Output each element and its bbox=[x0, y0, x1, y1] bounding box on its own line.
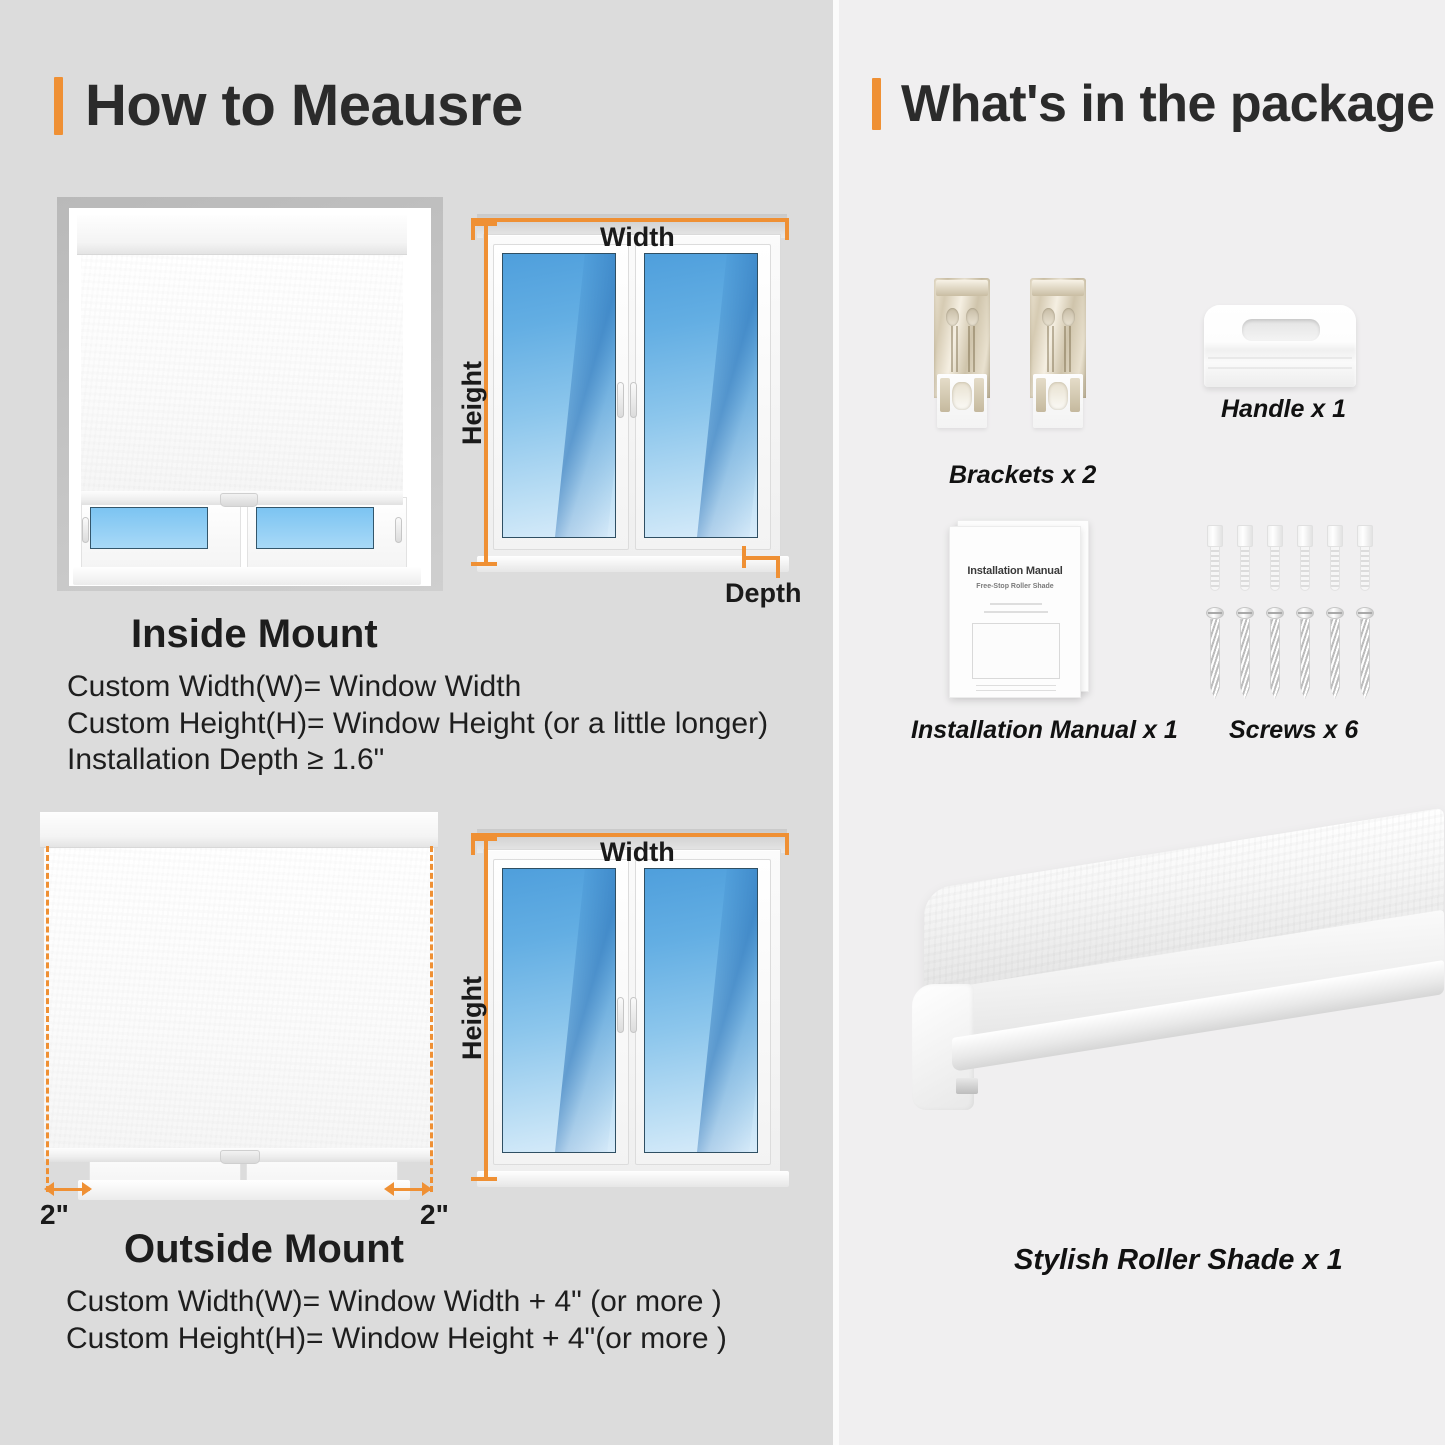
screw-5 bbox=[1326, 607, 1344, 703]
width-tick-right bbox=[785, 218, 789, 240]
wall-anchor-1 bbox=[1207, 525, 1223, 591]
overhang-arrowhead-right-inner bbox=[384, 1182, 394, 1196]
inside-mount-line-2: Custom Height(H)= Window Height (or a li… bbox=[67, 706, 768, 743]
inside-mount-title: Inside Mount bbox=[131, 612, 378, 657]
wall-anchor-2 bbox=[1237, 525, 1253, 591]
height-tick-bottom bbox=[471, 1177, 497, 1181]
overhang-label-left: 2" bbox=[40, 1199, 69, 1231]
wall-anchor-3 bbox=[1267, 525, 1283, 591]
handle-label: Handle x 1 bbox=[1221, 395, 1346, 424]
manual-cover-title: Installation Manual bbox=[950, 565, 1080, 577]
window-handle-right bbox=[630, 997, 637, 1033]
screw-3 bbox=[1266, 607, 1284, 703]
overhang-arrowhead-right bbox=[422, 1182, 432, 1196]
bracket-2 bbox=[1030, 278, 1086, 428]
window-handle-left bbox=[617, 382, 624, 418]
screw-1 bbox=[1206, 607, 1224, 703]
handle-slot bbox=[1242, 319, 1320, 341]
shade-valance bbox=[40, 812, 438, 848]
handle-ridge-1 bbox=[1208, 357, 1352, 359]
width-label: Width bbox=[600, 837, 675, 868]
manual-label: Installation Manual x 1 bbox=[911, 716, 1178, 745]
depth-tick-right bbox=[776, 556, 780, 578]
overhang-label-right: 2" bbox=[420, 1199, 449, 1231]
shade-fabric bbox=[81, 255, 403, 493]
window-glass-left bbox=[502, 253, 616, 538]
window-glass-left bbox=[90, 507, 208, 549]
window-handle-right bbox=[630, 382, 637, 418]
height-tick-bottom bbox=[471, 562, 497, 566]
manual-cover-subtitle: Free-Stop Roller Shade bbox=[950, 583, 1080, 590]
shade-pull-handle bbox=[220, 493, 258, 507]
overhang-arrowhead-left-inner bbox=[82, 1182, 92, 1196]
height-tick-top bbox=[471, 837, 497, 841]
outside-mount-shade-diagram bbox=[34, 812, 444, 1207]
inside-mount-line-1: Custom Width(W)= Window Width bbox=[67, 669, 768, 706]
window-glass-left bbox=[502, 868, 616, 1153]
outside-mount-title: Outside Mount bbox=[124, 1227, 404, 1272]
depth-dimension-line bbox=[742, 556, 780, 560]
window-glass-right bbox=[644, 868, 758, 1153]
brackets-label: Brackets x 2 bbox=[949, 461, 1096, 490]
overhang-guide-right bbox=[430, 846, 433, 1192]
overhang-arrowhead-left bbox=[44, 1182, 54, 1196]
shade-pull-handle bbox=[220, 1150, 260, 1164]
window-glass-right bbox=[256, 507, 374, 549]
screws-label: Screws x 6 bbox=[1229, 716, 1358, 745]
how-to-measure-heading: How to Meausre bbox=[54, 72, 523, 139]
window-handle-left bbox=[617, 997, 624, 1033]
whats-in-package-heading: What's in the package bbox=[872, 74, 1435, 134]
wall-anchor-4 bbox=[1297, 525, 1313, 591]
screw-2 bbox=[1236, 607, 1254, 703]
window-sill bbox=[477, 1171, 789, 1187]
how-to-measure-title: How to Meausre bbox=[85, 72, 523, 139]
outside-mount-window-diagram: Width Height bbox=[455, 815, 815, 1210]
accent-bar-icon bbox=[872, 78, 881, 130]
window-sill bbox=[78, 1180, 410, 1200]
height-tick-top bbox=[471, 222, 497, 226]
inside-mount-description: Custom Width(W)= Window Width Custom Hei… bbox=[67, 669, 768, 779]
shade-fabric bbox=[44, 848, 434, 1150]
whats-in-package-panel: What's in the package bbox=[839, 0, 1445, 1445]
wall-anchor-6 bbox=[1357, 525, 1373, 591]
infographic-page: How to Meausre bbox=[0, 0, 1445, 1445]
outside-mount-line-2: Custom Height(H)= Window Height + 4"(or … bbox=[66, 1321, 727, 1358]
roller-shade-product bbox=[894, 880, 1439, 1200]
shade-valance bbox=[77, 215, 407, 255]
inside-mount-line-3: Installation Depth ≥ 1.6" bbox=[67, 742, 768, 779]
window-handle-left bbox=[82, 517, 89, 543]
screw-4 bbox=[1296, 607, 1314, 703]
width-tick-right bbox=[785, 833, 789, 855]
screw-6 bbox=[1356, 607, 1374, 703]
inside-mount-shade-diagram bbox=[57, 197, 443, 591]
wall-anchor-5 bbox=[1327, 525, 1343, 591]
shade-metal-tip bbox=[956, 1078, 978, 1094]
bracket-1 bbox=[934, 278, 990, 428]
depth-label: Depth bbox=[725, 578, 802, 609]
outside-mount-description: Custom Width(W)= Window Width + 4" (or m… bbox=[66, 1284, 727, 1357]
manual-cover: Installation Manual Free-Stop Roller Sha… bbox=[949, 526, 1081, 698]
window-sill bbox=[73, 567, 421, 585]
window-glass-right bbox=[644, 253, 758, 538]
width-label: Width bbox=[600, 222, 675, 253]
how-to-measure-panel: How to Meausre bbox=[0, 0, 833, 1445]
inside-mount-window-diagram: Width Height Depth bbox=[455, 200, 815, 600]
roller-shade-label: Stylish Roller Shade x 1 bbox=[1014, 1244, 1343, 1277]
height-label: Height bbox=[457, 361, 488, 445]
accent-bar-icon bbox=[54, 77, 63, 135]
outside-mount-line-1: Custom Width(W)= Window Width + 4" (or m… bbox=[66, 1284, 727, 1321]
overhang-guide-left bbox=[46, 846, 49, 1192]
window-handle-right bbox=[395, 517, 402, 543]
handle-body bbox=[1204, 305, 1356, 387]
handle-ridge-2 bbox=[1208, 367, 1352, 369]
depth-tick-left bbox=[742, 546, 746, 568]
height-label: Height bbox=[457, 976, 488, 1060]
whats-in-package-title: What's in the package bbox=[901, 74, 1435, 134]
